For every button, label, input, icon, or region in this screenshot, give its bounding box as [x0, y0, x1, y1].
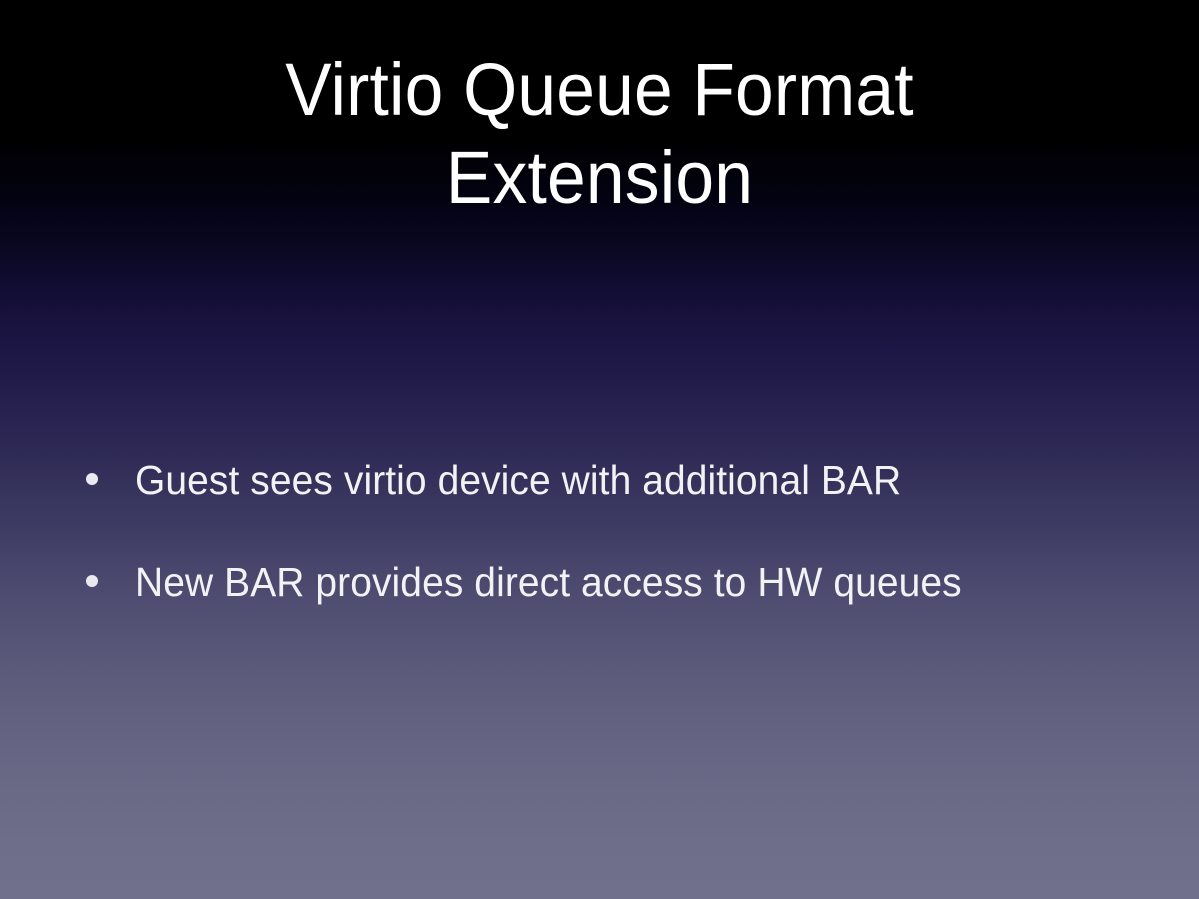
slide-title: Virtio Queue Format Extension [0, 46, 1199, 222]
bullet-list: Guest sees virtio device with additional… [86, 452, 1159, 656]
list-item: Guest sees virtio device with additional… [86, 452, 1159, 508]
bullet-item-label: Guest sees virtio device with additional… [135, 452, 901, 508]
bullet-item-label: New BAR provides direct access to HW que… [135, 554, 962, 610]
bullet-dot-icon [86, 473, 98, 485]
slide-title-line-2: Extension [36, 134, 1163, 222]
slide-title-line-1: Virtio Queue Format [36, 46, 1163, 134]
presentation-slide: Virtio Queue Format Extension Guest sees… [0, 0, 1199, 899]
list-item: New BAR provides direct access to HW que… [86, 554, 1159, 610]
bullet-dot-icon [86, 575, 98, 587]
